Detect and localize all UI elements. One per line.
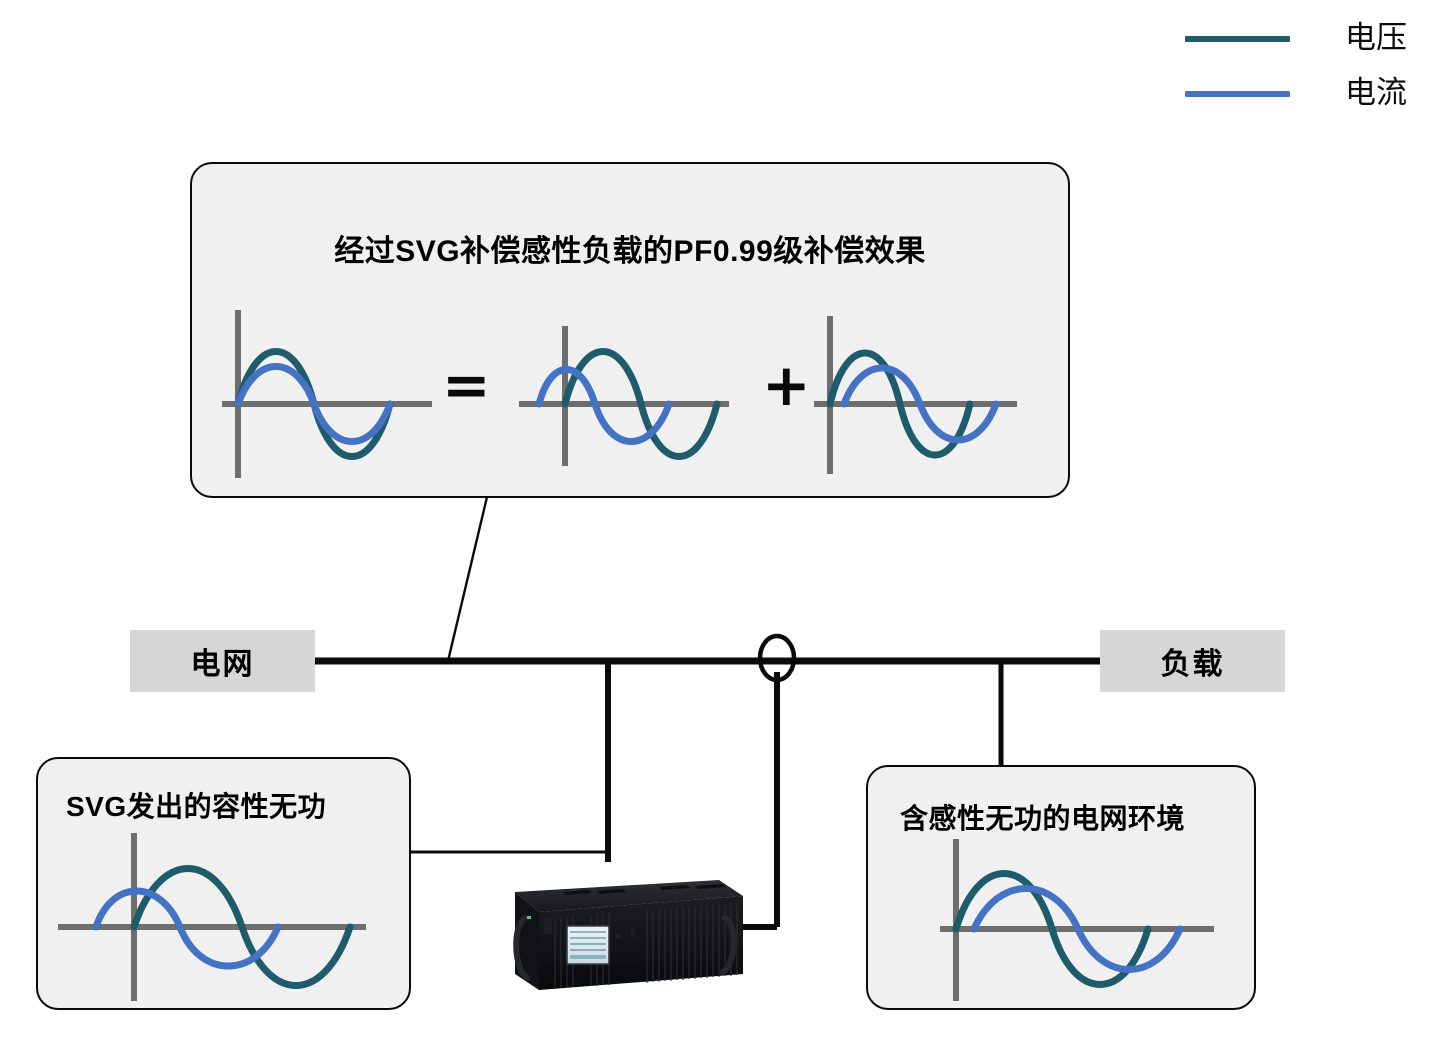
equals-operator: = (442, 356, 491, 414)
waveform-left-panel (56, 829, 386, 1004)
legend-item-voltage: 电压 (1160, 14, 1425, 69)
plus-operator: + (762, 356, 811, 414)
svg-rack-device (497, 862, 745, 1007)
bus-label-text: 负载 (1161, 639, 1225, 683)
panel-title: 经过SVG补偿感性负载的PF0.99级补偿效果 (192, 226, 1068, 270)
diagram-canvas: 电压 电流 经过SVG补偿感性负载的PF0.99级补偿效果 = + (0, 0, 1433, 1060)
legend-item-label: 电压 (1345, 14, 1407, 62)
waveform-compensated-result (220, 306, 450, 481)
waveform-right-panel (888, 835, 1238, 1005)
waveform-inductive-load (812, 306, 1047, 481)
current-transformer-icon (760, 636, 794, 680)
top-panel-leader-line (448, 497, 487, 661)
bus-label-text: 电网 (191, 639, 255, 683)
line-swatch-icon (1185, 36, 1290, 42)
legend-item-label: 电流 (1345, 69, 1407, 117)
panel-title: SVG发出的容性无功 (66, 785, 326, 825)
compensation-effect-panel: 经过SVG补偿感性负载的PF0.99级补偿效果 = + (190, 162, 1070, 498)
bus-label-grid: 电网 (130, 630, 315, 692)
legend-item-current: 电流 (1160, 69, 1425, 124)
svg-capacitive-output-panel: SVG发出的容性无功 (36, 757, 411, 1010)
lcd-footer-bar (570, 955, 606, 959)
waveform-svg-capacitive-output (517, 306, 757, 481)
bus-label-load: 负载 (1100, 630, 1285, 692)
legend: 电压 电流 (1160, 14, 1425, 124)
line-swatch-icon (1185, 91, 1290, 97)
panel-title: 含感性无功的电网环境 (900, 797, 1185, 837)
inductive-grid-environment-panel: 含感性无功的电网环境 (866, 765, 1256, 1010)
